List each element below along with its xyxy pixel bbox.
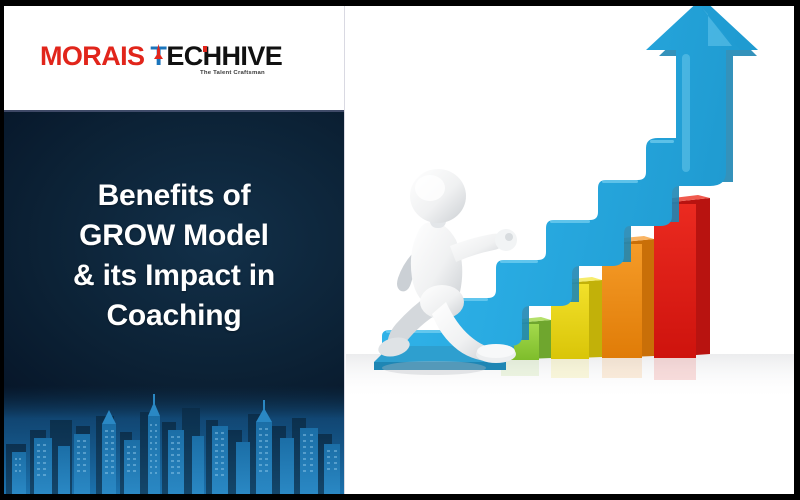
city-skyline-silhouette-icon	[4, 386, 344, 494]
poster-frame: MORAISTECHHIVE The Talent Craftsman Bene…	[0, 0, 800, 500]
hero-panel: Benefits of GROW Model & its Impact in C…	[4, 110, 344, 494]
morais-techhive-logo[interactable]: MORAISTECHHIVE The Talent Craftsman	[40, 42, 310, 88]
logo-word-morais: MORAIS	[40, 41, 144, 71]
title-line-3: & its Impact in	[4, 256, 344, 296]
logo-band: MORAISTECHHIVE The Talent Craftsman	[4, 6, 344, 110]
growth-staircase-illustration	[346, 6, 794, 494]
hero-top-hairline	[4, 110, 344, 112]
title-line-2: GROW Model	[4, 216, 344, 256]
title-line-1: Benefits of	[4, 176, 344, 216]
page-title: Benefits of GROW Model & its Impact in C…	[4, 176, 344, 336]
logo-tick-icon	[203, 46, 207, 52]
title-line-4: Coaching	[4, 296, 344, 336]
logo-tagline: The Talent Craftsman	[200, 70, 265, 76]
right-panel	[346, 6, 794, 494]
logo-word-echhive: ECHHIVE	[166, 41, 282, 71]
poster-canvas: MORAISTECHHIVE The Talent Craftsman Bene…	[4, 6, 794, 494]
left-panel: MORAISTECHHIVE The Talent Craftsman Bene…	[4, 6, 345, 494]
